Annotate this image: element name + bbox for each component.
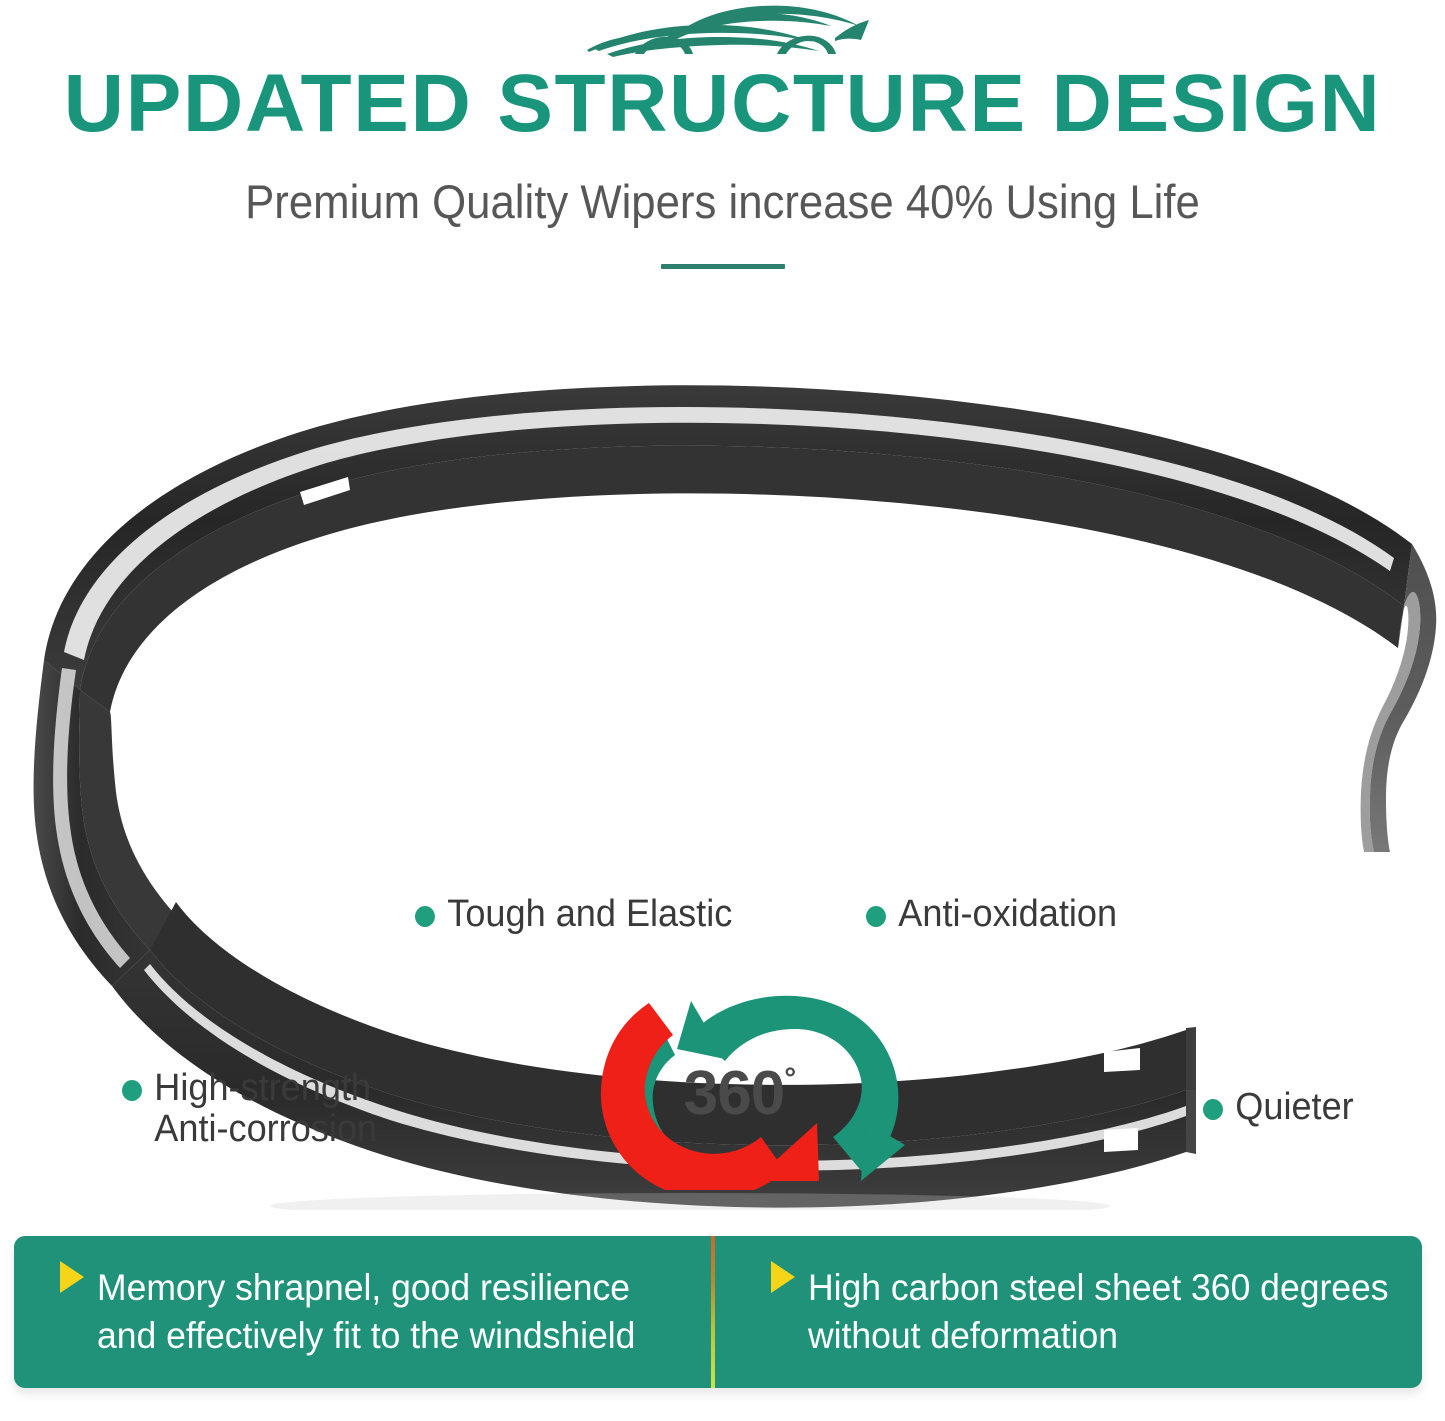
page-title: UPDATED STRUCTURE DESIGN xyxy=(0,62,1445,146)
bullet-dot-icon xyxy=(1203,1099,1223,1120)
360-degree-rotation-badge: 360° xyxy=(565,985,915,1190)
banner-cell-right: High carbon steel sheet 360 degrees with… xyxy=(715,1236,1422,1388)
strip-notch-bottom-a xyxy=(1104,1128,1138,1152)
product-image-area: 360° Tough and Elastic Anti-oxidation Hi… xyxy=(0,330,1445,1210)
car-silhouette-icon xyxy=(573,4,873,62)
feature-label-text: Tough and Elastic xyxy=(447,894,732,935)
triangle-bullet-icon xyxy=(60,1261,84,1293)
degree-symbol-icon: ° xyxy=(784,1062,796,1095)
bottom-feature-banner: Memory shrapnel, good resilience and eff… xyxy=(14,1236,1422,1388)
title-divider xyxy=(661,264,785,269)
banner-left-line2: and effectively fit to the windshield xyxy=(97,1312,635,1360)
strip-bottom-end-face-b xyxy=(1186,1027,1196,1090)
strip-notch-top-b xyxy=(290,568,340,594)
badge-360-value: 360 xyxy=(684,1059,784,1128)
bullet-dot-icon xyxy=(415,906,435,927)
strip-notch-bottom-b xyxy=(1104,1048,1140,1072)
banner-left-line1: Memory shrapnel, good resilience xyxy=(97,1267,630,1308)
triangle-bullet-icon xyxy=(771,1261,795,1293)
banner-right-text: High carbon steel sheet 360 degrees with… xyxy=(808,1264,1389,1360)
badge-360-label: 360° xyxy=(565,1048,915,1125)
feature-label-text: Quieter xyxy=(1235,1087,1353,1128)
page-subtitle: Premium Quality Wipers increase 40% Usin… xyxy=(51,176,1395,228)
feature-label-line2: Anti-corrosion xyxy=(154,1109,377,1150)
banner-right-line2: without deformation xyxy=(808,1312,1389,1360)
feature-label-line1: High-strength xyxy=(154,1067,371,1109)
feature-label-high-strength-anti-corrosion: High-strength Anti-corrosion xyxy=(122,1068,377,1150)
bullet-dot-icon xyxy=(866,906,886,927)
strip-bottom-end-face-a xyxy=(1186,1090,1196,1154)
banner-cell-left: Memory shrapnel, good resilience and eff… xyxy=(14,1236,711,1388)
feature-label-quieter: Quieter xyxy=(1203,1087,1354,1128)
bullet-dot-icon xyxy=(122,1080,142,1101)
feature-label-text-wrapper: High-strength Anti-corrosion xyxy=(154,1068,377,1150)
feature-label-tough-and-elastic: Tough and Elastic xyxy=(415,894,732,935)
banner-left-text: Memory shrapnel, good resilience and eff… xyxy=(97,1264,635,1360)
feature-label-anti-oxidation: Anti-oxidation xyxy=(866,894,1117,935)
banner-right-line1: High carbon steel sheet 360 degrees xyxy=(808,1267,1389,1308)
product-infographic: UPDATED STRUCTURE DESIGN Premium Quality… xyxy=(0,0,1445,1421)
feature-label-text: Anti-oxidation xyxy=(898,894,1117,935)
